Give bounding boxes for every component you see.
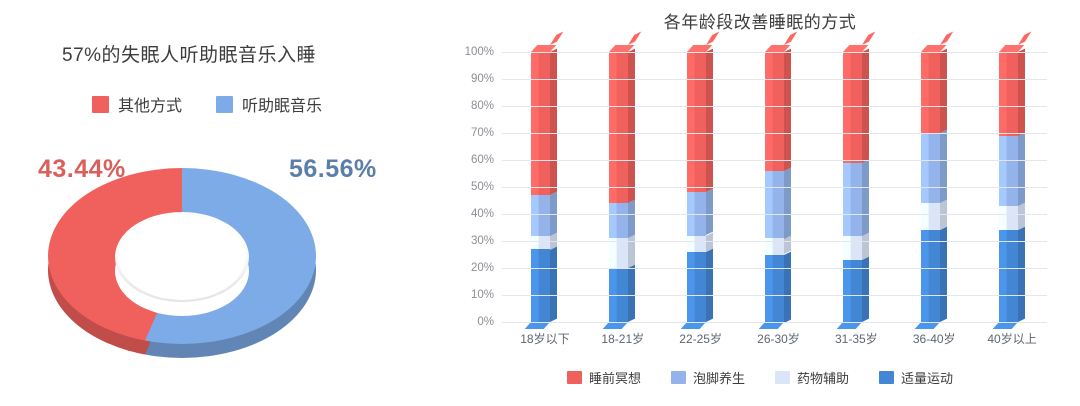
bar-base-foot-face [681, 322, 706, 329]
bar-base-foot [531, 322, 550, 329]
bar-base-foot [843, 322, 862, 329]
bar-segment-side [784, 251, 791, 322]
bar-segment-side [628, 49, 635, 204]
x-axis-tick-label: 22-25岁 [679, 330, 722, 347]
donut-legend-label: 其他方式 [118, 92, 182, 116]
bar-segment[interactable] [687, 252, 706, 322]
bar-base-foot [687, 322, 706, 329]
bar-segment-face [843, 163, 862, 236]
x-axis-tick-label: 40岁以上 [987, 330, 1036, 347]
bar-top-cap-side [862, 32, 875, 45]
bar-legend-label: 睡前冥想 [589, 368, 641, 387]
bar-segment[interactable] [999, 52, 1018, 136]
bar-top-cap [609, 45, 628, 52]
x-axis-tick-label: 18岁以下 [520, 330, 569, 347]
bar-segment-face [843, 236, 862, 260]
bar-top-cap [843, 45, 862, 52]
x-axis-tick-label: 31-35岁 [835, 330, 878, 347]
bar-legend-label: 泡脚养生 [693, 368, 745, 387]
bar-segment[interactable] [687, 236, 706, 252]
donut-legend-item-other[interactable]: 其他方式 [92, 92, 182, 116]
y-axis-tick-label: 10% [471, 289, 494, 301]
bar-top-cap-side [784, 32, 797, 45]
bar-segment-side [628, 200, 635, 239]
bar-segment-face [609, 203, 628, 238]
y-axis-tick-label: 20% [471, 262, 494, 274]
bar-segment[interactable] [999, 136, 1018, 206]
bar-segment-face [999, 230, 1018, 322]
bar-segment[interactable] [531, 195, 550, 236]
bar-segment[interactable] [765, 52, 784, 171]
bar-segment-face [687, 236, 706, 252]
bar-segment-face [765, 52, 784, 171]
grid-line [502, 106, 1047, 107]
bar-segment[interactable] [999, 230, 1018, 322]
bar-segment-face [921, 52, 940, 133]
bar-segment-side [628, 265, 635, 322]
bar-segment-face [531, 236, 550, 250]
y-axis-tick-label: 70% [471, 127, 494, 139]
y-axis-tick-label: 60% [471, 154, 494, 166]
bar-segment-side [940, 49, 947, 133]
y-axis-tick-label: 90% [471, 73, 494, 85]
bar-segment-face [609, 238, 628, 268]
bar-base-foot [921, 322, 940, 329]
bar-segment[interactable] [687, 52, 706, 192]
bar-segment-side [862, 256, 869, 322]
donut-graphic[interactable] [48, 168, 316, 360]
legend-swatch-icon [671, 371, 686, 384]
bar-base-foot-face [837, 322, 862, 329]
bar-top-cap-side [550, 32, 563, 45]
bar-segment[interactable] [609, 238, 628, 268]
bar-segment-side [1018, 202, 1025, 230]
bar-segment-side [706, 189, 713, 236]
bar-segment[interactable] [921, 203, 940, 230]
bar-segment-face [531, 52, 550, 195]
bar-top-cap-side [1018, 32, 1031, 45]
bar-segment-face [609, 52, 628, 203]
bar-segment-side [862, 159, 869, 235]
bar-chart-legend: 睡前冥想 泡脚养生 药物辅助 适量运动 [440, 368, 1080, 387]
bar-segment[interactable] [531, 249, 550, 322]
bar-legend-item-foot-bath[interactable]: 泡脚养生 [671, 368, 745, 387]
y-axis-tick-label: 0% [477, 316, 494, 328]
bar-base-foot-face [914, 322, 939, 329]
bar-segment[interactable] [531, 52, 550, 195]
legend-swatch-icon [92, 96, 109, 113]
bar-segment[interactable] [609, 52, 628, 203]
grid-line [502, 52, 1047, 53]
grid-line [502, 268, 1047, 269]
grid-line [502, 187, 1047, 188]
donut-legend-item-sleep-music[interactable]: 听助眠音乐 [216, 92, 322, 116]
bar-segment[interactable] [843, 163, 862, 236]
bar-segment[interactable] [531, 236, 550, 250]
x-axis-tick-label: 18-21岁 [601, 330, 644, 347]
bar-segment-side [706, 248, 713, 322]
grid-line [502, 322, 1047, 323]
y-axis-tick-label: 80% [471, 100, 494, 112]
donut-chart-title: 57%的失眠人听助眠音乐入睡 [62, 40, 316, 67]
bar-legend-label: 药物辅助 [797, 368, 849, 387]
bar-segment-face [843, 260, 862, 322]
legend-swatch-icon [879, 371, 894, 384]
y-axis-tick-label: 30% [471, 235, 494, 247]
bar-segment[interactable] [765, 255, 784, 323]
bar-segment[interactable] [843, 52, 862, 163]
bar-segment-face [687, 52, 706, 192]
bar-segment-face [531, 195, 550, 236]
bar-top-cap [687, 45, 706, 52]
bar-legend-item-meditation[interactable]: 睡前冥想 [567, 368, 641, 387]
y-axis-tick-label: 50% [471, 181, 494, 193]
bar-base-foot [609, 322, 628, 329]
bar-segment[interactable] [921, 230, 940, 322]
legend-swatch-icon [216, 96, 233, 113]
bar-segment-face [921, 230, 940, 322]
bar-segment-side [628, 235, 635, 268]
bar-chart-plot-area: 0%10%20%30%40%50%60%70%80%90%100% [502, 52, 1047, 322]
bar-chart-title: 各年龄段改善睡眠的方式 [440, 8, 1080, 33]
bar-top-cap [999, 45, 1018, 52]
bar-segment-face [999, 136, 1018, 206]
legend-swatch-icon [567, 371, 582, 384]
bar-segment-side [1018, 49, 1025, 136]
stacked-bar-chart-panel: 各年龄段改善睡眠的方式 0%10%20%30%40%50%60%70%80%90… [440, 0, 1080, 406]
y-axis-tick-label: 100% [465, 46, 494, 58]
legend-swatch-icon [775, 371, 790, 384]
bar-legend-item-exercise[interactable]: 适量运动 [879, 368, 953, 387]
grid-line [502, 295, 1047, 296]
y-axis-tick-label: 40% [471, 208, 494, 220]
bar-segment-face [921, 203, 940, 230]
bar-top-cap [921, 45, 940, 52]
bar-legend-label: 适量运动 [901, 368, 953, 387]
bar-segment-face [687, 252, 706, 322]
bar-segment-face [843, 52, 862, 163]
donut-legend-label: 听助眠音乐 [242, 92, 322, 116]
bar-base-foot-face [603, 322, 628, 329]
bar-segment-face [921, 133, 940, 203]
bar-base-foot-face [759, 322, 784, 329]
grid-line [502, 214, 1047, 215]
donut-legend: 其他方式 听助眠音乐 [92, 92, 322, 116]
donut-hole-face [118, 214, 246, 300]
bar-legend-item-medication[interactable]: 药物辅助 [775, 368, 849, 387]
bar-segment-side [706, 232, 713, 252]
grid-line [502, 79, 1047, 80]
bar-segment[interactable] [843, 260, 862, 322]
bar-segment-face [765, 171, 784, 239]
bar-segment-face [765, 255, 784, 323]
bar-base-foot-face [525, 322, 550, 329]
bar-chart-x-axis: 18岁以下18-21岁22-25岁26-30岁31-35岁36-40岁40岁以上 [502, 330, 1047, 352]
x-axis-tick-label: 36-40岁 [913, 330, 956, 347]
bar-segment-side [550, 246, 557, 322]
infographic-canvas: 57%的失眠人听助眠音乐入睡 其他方式 听助眠音乐 43.44% 56.56% … [0, 0, 1080, 406]
bar-segment-face [999, 206, 1018, 230]
bar-segment[interactable] [999, 206, 1018, 230]
bar-segment-side [550, 49, 557, 196]
bar-base-foot-face [992, 322, 1017, 329]
donut-chart-panel: 57%的失眠人听助眠音乐入睡 其他方式 听助眠音乐 43.44% 56.56% [0, 0, 440, 406]
bar-segment[interactable] [765, 171, 784, 239]
bar-segment-side [706, 49, 713, 193]
bar-top-cap [765, 45, 784, 52]
bar-segment[interactable] [921, 52, 940, 133]
bar-segment[interactable] [921, 133, 940, 203]
bar-segment-side [784, 49, 791, 171]
bar-segment-face [999, 52, 1018, 136]
bar-base-foot [765, 322, 784, 329]
bar-segment-side [862, 232, 869, 260]
grid-line [502, 241, 1047, 242]
x-axis-tick-label: 26-30岁 [757, 330, 800, 347]
bar-top-cap-side [706, 32, 719, 45]
bar-segment-side [784, 167, 791, 238]
grid-line [502, 133, 1047, 134]
bar-segment[interactable] [843, 236, 862, 260]
grid-line [502, 160, 1047, 161]
bar-top-cap-side [628, 32, 641, 45]
bar-top-cap-side [940, 32, 953, 45]
bar-segment-side [1018, 132, 1025, 206]
bar-segment-face [531, 249, 550, 322]
bar-base-foot [999, 322, 1018, 329]
bar-segment[interactable] [609, 203, 628, 238]
bar-segment-side [940, 130, 947, 204]
bar-top-cap [531, 45, 550, 52]
